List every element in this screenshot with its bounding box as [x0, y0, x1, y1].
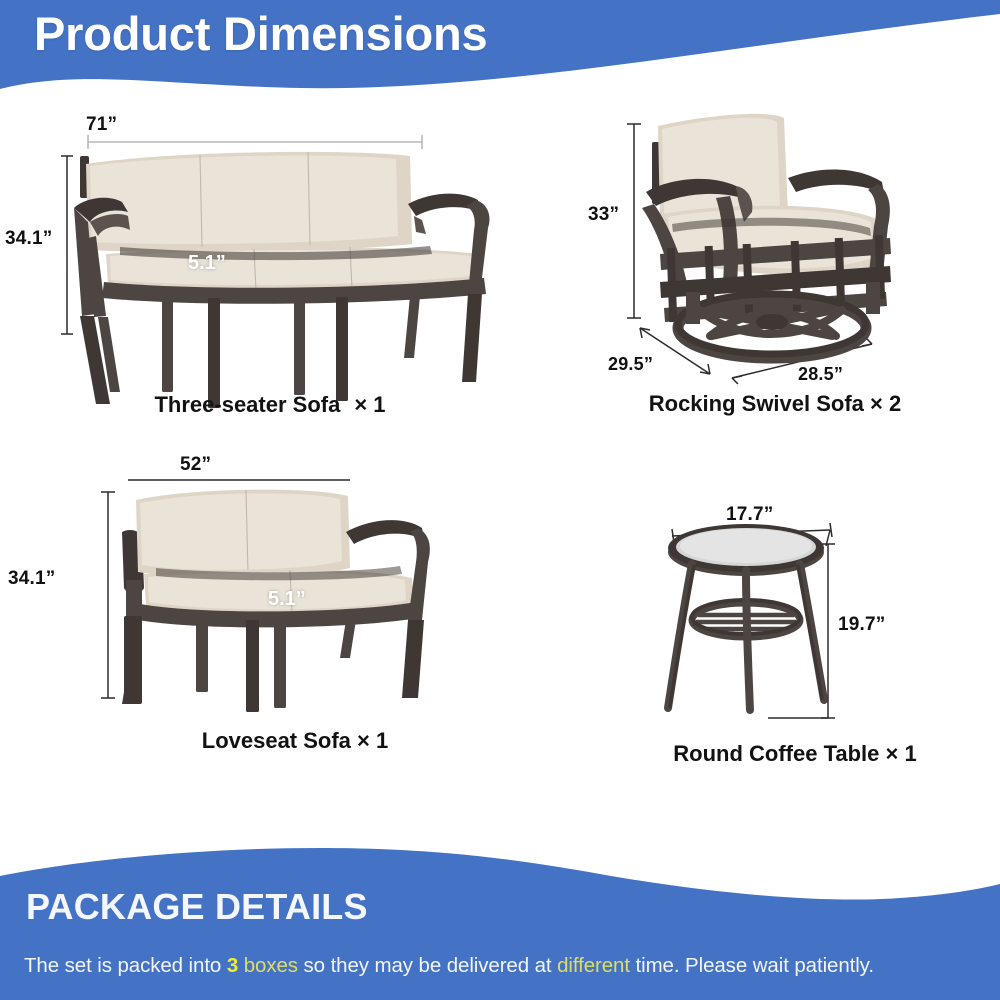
page-title: Product Dimensions: [34, 8, 487, 60]
caption-loveseat-sofa: Loveseat Sofa × 1: [60, 728, 530, 754]
caption-round-coffee-table: Round Coffee Table × 1: [600, 741, 990, 767]
dim-cushion-5-1-loveseat: 5.1”: [268, 588, 306, 611]
footer-note: The set is packed into 3 boxes so they m…: [24, 954, 874, 978]
note-part-2: so they may be delivered at: [298, 954, 557, 977]
dim-diameter-17-7: 17.7”: [726, 504, 773, 526]
dim-width-28-5: 28.5”: [798, 364, 843, 385]
note-part-1: The set is packed into: [24, 954, 227, 977]
product-round-coffee-table: 17.7” 19.7”: [600, 486, 990, 798]
product-loveseat-sofa: 52” 34.1” 5.1”: [60, 448, 530, 798]
round-coffee-table-illustration: [600, 486, 990, 746]
product-quantity: × 1: [354, 392, 385, 417]
product-three-seater-sofa: 71” 34.1” 5.1”: [10, 104, 530, 449]
product-dimensions-grid: 71” 34.1” 5.1”: [0, 96, 1000, 852]
dim-height-19-7: 19.7”: [838, 614, 885, 636]
dim-height-34-1-loveseat: 34.1”: [8, 568, 55, 590]
caption-three-seater-sofa: Three-seater Sofa× 1: [10, 392, 530, 418]
note-box-unit: boxes: [238, 954, 298, 977]
three-seater-sofa-illustration: [10, 104, 530, 424]
note-emphasis: different: [557, 954, 630, 977]
dim-height-34-1: 34.1”: [5, 228, 52, 250]
product-name: Three-seater Sofa: [154, 392, 340, 417]
product-rocking-swivel-sofa: 33” 29.5” 28.5”: [560, 96, 990, 449]
dim-cushion-5-1: 5.1”: [188, 252, 226, 275]
dim-depth-29-5: 29.5”: [608, 354, 653, 375]
caption-rocking-swivel-sofa: Rocking Swivel Sofa × 2: [560, 391, 990, 417]
dim-width-52: 52”: [180, 454, 211, 476]
dim-width-71: 71”: [86, 114, 117, 136]
note-box-count: 3: [227, 954, 238, 977]
note-part-3: time. Please wait patiently.: [630, 954, 874, 977]
dim-height-33: 33”: [588, 204, 619, 226]
footer-heading: PACKAGE DETAILS: [26, 886, 368, 928]
